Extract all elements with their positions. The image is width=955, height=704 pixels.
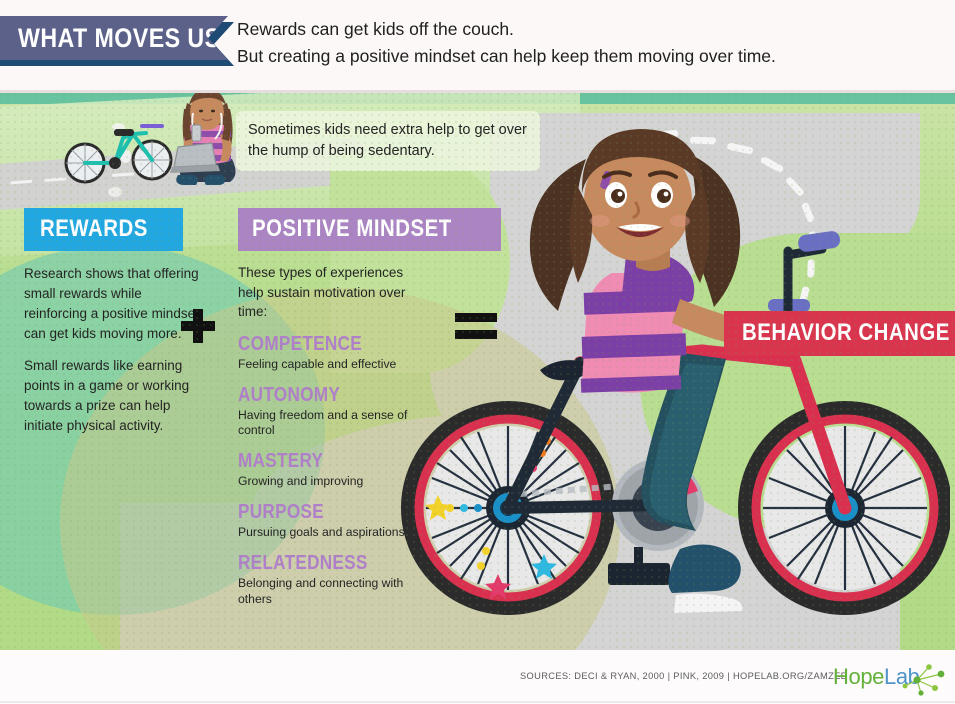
header-subtitle: Rewards can get kids off the couch. But … [237,16,937,69]
footer-divider [0,701,955,703]
page-title: WHAT MOVES US? [18,23,235,54]
hopelab-network-icon [901,662,947,696]
header-subtitle-line-1: Rewards can get kids off the couch. [237,16,937,43]
infographic-canvas: WHAT MOVES US? Rewards can get kids off … [0,0,955,704]
header-banner: WHAT MOVES US? [0,16,228,60]
hopelab-logo-hope: Hope [833,664,884,689]
header: WHAT MOVES US? Rewards can get kids off … [0,0,955,93]
sources-line: SOURCES: DECI & RYAN, 2000 | PINK, 2009 … [520,671,847,681]
footer: SOURCES: DECI & RYAN, 2000 | PINK, 2009 … [0,650,955,704]
dot-texture-overlay [0,93,955,650]
header-subtitle-line-2: But creating a positive mindset can help… [237,43,937,70]
hopelab-logo[interactable]: HopeLab [833,662,945,696]
